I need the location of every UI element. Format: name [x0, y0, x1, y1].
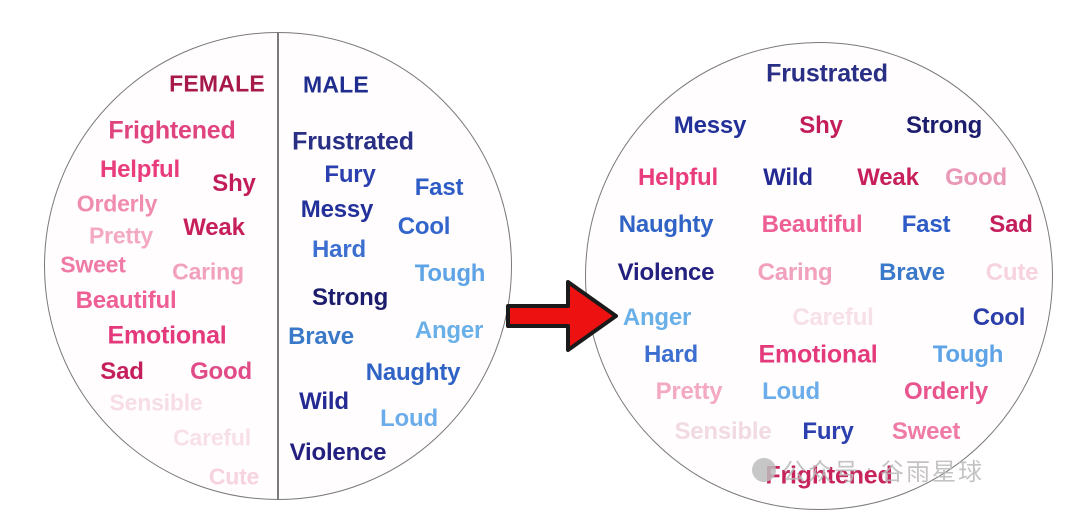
female-word: Shy: [212, 172, 255, 196]
male-word: Naughty: [366, 361, 461, 385]
merged-word: Sad: [989, 213, 1032, 237]
merged-word: Anger: [623, 306, 691, 330]
gender-divider-line: [277, 33, 279, 499]
watermark-separator: ·: [866, 459, 874, 480]
merged-word: Wild: [763, 166, 813, 190]
male-word: Strong: [312, 286, 388, 310]
merged-word: Hard: [644, 343, 698, 367]
merged-word: Cool: [973, 306, 1026, 330]
female-heading: FEMALE: [169, 73, 265, 96]
merged-word: Violence: [618, 261, 715, 285]
female-word: Orderly: [77, 193, 157, 216]
merged-word: Fury: [802, 420, 853, 444]
male-heading: MALE: [303, 74, 369, 97]
merged-word: Naughty: [619, 213, 714, 237]
female-word: Pretty: [89, 225, 153, 248]
male-word: Loud: [380, 407, 438, 431]
female-word: Good: [190, 360, 252, 384]
female-word: Sad: [100, 360, 143, 384]
male-word: Cool: [398, 215, 451, 239]
watermark-brand-label: 谷雨星球: [880, 452, 984, 487]
male-word: Violence: [290, 441, 387, 465]
female-word: Sweet: [60, 254, 125, 277]
female-word: Careful: [173, 427, 251, 450]
male-word: Frustrated: [292, 130, 414, 155]
merged-word: Good: [945, 166, 1007, 190]
right-arrow-icon: [506, 278, 618, 354]
male-word: Wild: [299, 390, 349, 414]
merged-word: Loud: [762, 380, 820, 404]
female-word: Sensible: [110, 392, 203, 415]
male-word: Tough: [415, 262, 486, 286]
merged-word: Sweet: [892, 420, 960, 444]
merged-word: Tough: [933, 343, 1004, 367]
merged-word: Helpful: [638, 166, 718, 190]
male-word: Hard: [312, 238, 366, 262]
merged-word: Frustrated: [766, 62, 888, 87]
female-word: Helpful: [100, 158, 180, 182]
female-word: Beautiful: [76, 289, 177, 313]
male-word: Anger: [415, 319, 483, 343]
male-word: Fury: [324, 163, 375, 187]
male-word: Messy: [301, 198, 373, 222]
merged-word: Beautiful: [762, 213, 863, 237]
female-word: Caring: [172, 261, 244, 284]
illustration-canvas: FEMALE MALE FrightenedHelpfulShyOrderlyP…: [0, 0, 1080, 516]
male-word: Fast: [415, 176, 464, 200]
female-word: Weak: [183, 216, 244, 240]
merged-word: Shy: [799, 114, 842, 138]
female-word: Cute: [209, 466, 259, 489]
watermark-account-label: 公众号: [782, 452, 860, 487]
merged-word: Caring: [758, 261, 833, 285]
merged-word: Fast: [902, 213, 951, 237]
merged-word: Brave: [879, 261, 945, 285]
watermark-logo-icon: [752, 458, 776, 482]
female-word: Emotional: [107, 324, 226, 349]
merged-word: Pretty: [656, 380, 723, 404]
female-word: Frightened: [108, 119, 235, 144]
merged-word: Orderly: [904, 380, 988, 404]
merged-word: Careful: [792, 306, 873, 330]
merged-word: Sensible: [674, 420, 771, 444]
merged-word: Strong: [906, 114, 982, 138]
male-word: Brave: [288, 325, 354, 349]
watermark: 公众号 · 谷雨星球: [752, 452, 984, 487]
merged-word: Cute: [986, 261, 1039, 285]
merged-word: Messy: [674, 114, 746, 138]
merged-word: Emotional: [758, 343, 877, 368]
merged-word: Weak: [857, 166, 918, 190]
